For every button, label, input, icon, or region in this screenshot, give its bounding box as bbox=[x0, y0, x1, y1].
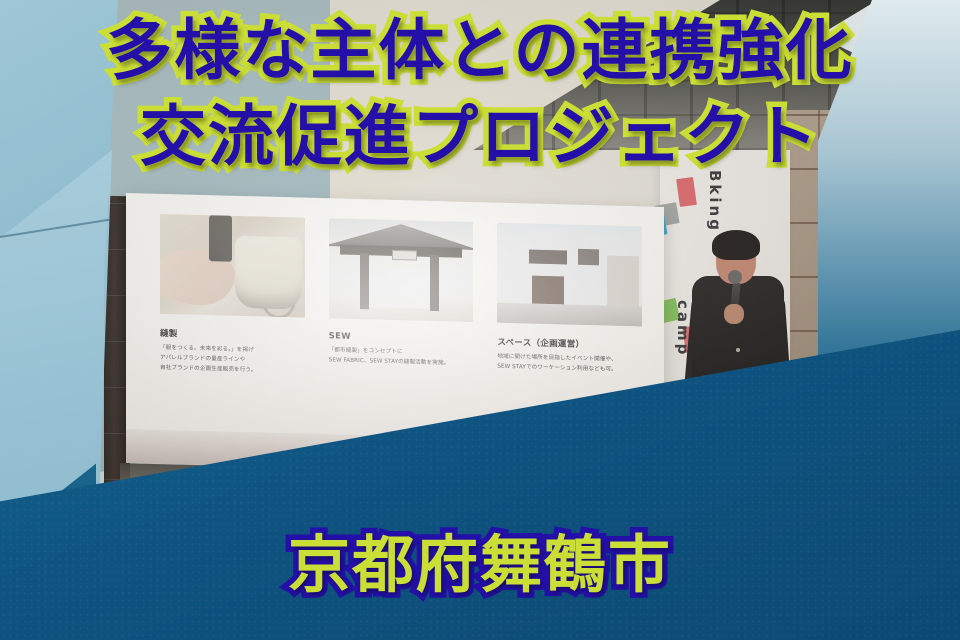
microphone-head-icon bbox=[728, 270, 742, 284]
speaker-hair bbox=[712, 230, 760, 260]
presentation-photo: SAKU camp Bking 縫製 bbox=[0, 0, 960, 640]
audience-member-head bbox=[386, 440, 478, 512]
slide-columns: 縫製 「服をつくる。未来を彩る。」を掲げ アパレルブランドの量産ラインや 自社ブ… bbox=[160, 214, 642, 386]
audience-member-head bbox=[744, 404, 822, 466]
slide-column: 縫製 「服をつくる。未来を彩る。」を掲げ アパレルブランドの量産ラインや 自社ブ… bbox=[160, 214, 305, 378]
slide-column: SEW 「都市縫製」をコンセプトに SEW FABRIC、SEW STAYの縫製… bbox=[329, 218, 474, 382]
projection-screen: 縫製 「服をつくる。未来を彩る。」を掲げ アパレルブランドの量産ラインや 自社ブ… bbox=[126, 193, 664, 477]
slide-column-heading: 縫製 bbox=[160, 327, 305, 343]
speaker-hand bbox=[724, 304, 744, 324]
slide-photo-sewing bbox=[160, 214, 305, 318]
slide-column-body: 「都市縫製」をコンセプトに SEW FABRIC、SEW STAYの縫製活動を実… bbox=[329, 346, 474, 370]
slide-column-heading: SEW bbox=[329, 331, 474, 345]
slide-column-heading: スペース（企画運営） bbox=[497, 336, 642, 352]
slide-column-body: 「服をつくる。未来を彩る。」を掲げ アパレルブランドの量産ラインや 自社ブランド… bbox=[160, 344, 305, 378]
slide-column: スペース（企画運営） 地域に開けた場所を目指したイベント開催や、 SEW STA… bbox=[497, 223, 642, 387]
thumbnail-canvas: SAKU camp Bking 縫製 bbox=[0, 0, 960, 640]
slide-column-body: 地域に開けた場所を目指したイベント開催や、 SEW STAYでのワーケーション利… bbox=[497, 353, 642, 377]
slide-photo-building bbox=[497, 223, 642, 327]
slide-photo-machiya bbox=[329, 218, 474, 322]
banner-square-red-1 bbox=[676, 177, 697, 207]
banner-text-bking: Bking bbox=[706, 170, 722, 233]
wood-lattice-wall bbox=[780, 110, 890, 440]
